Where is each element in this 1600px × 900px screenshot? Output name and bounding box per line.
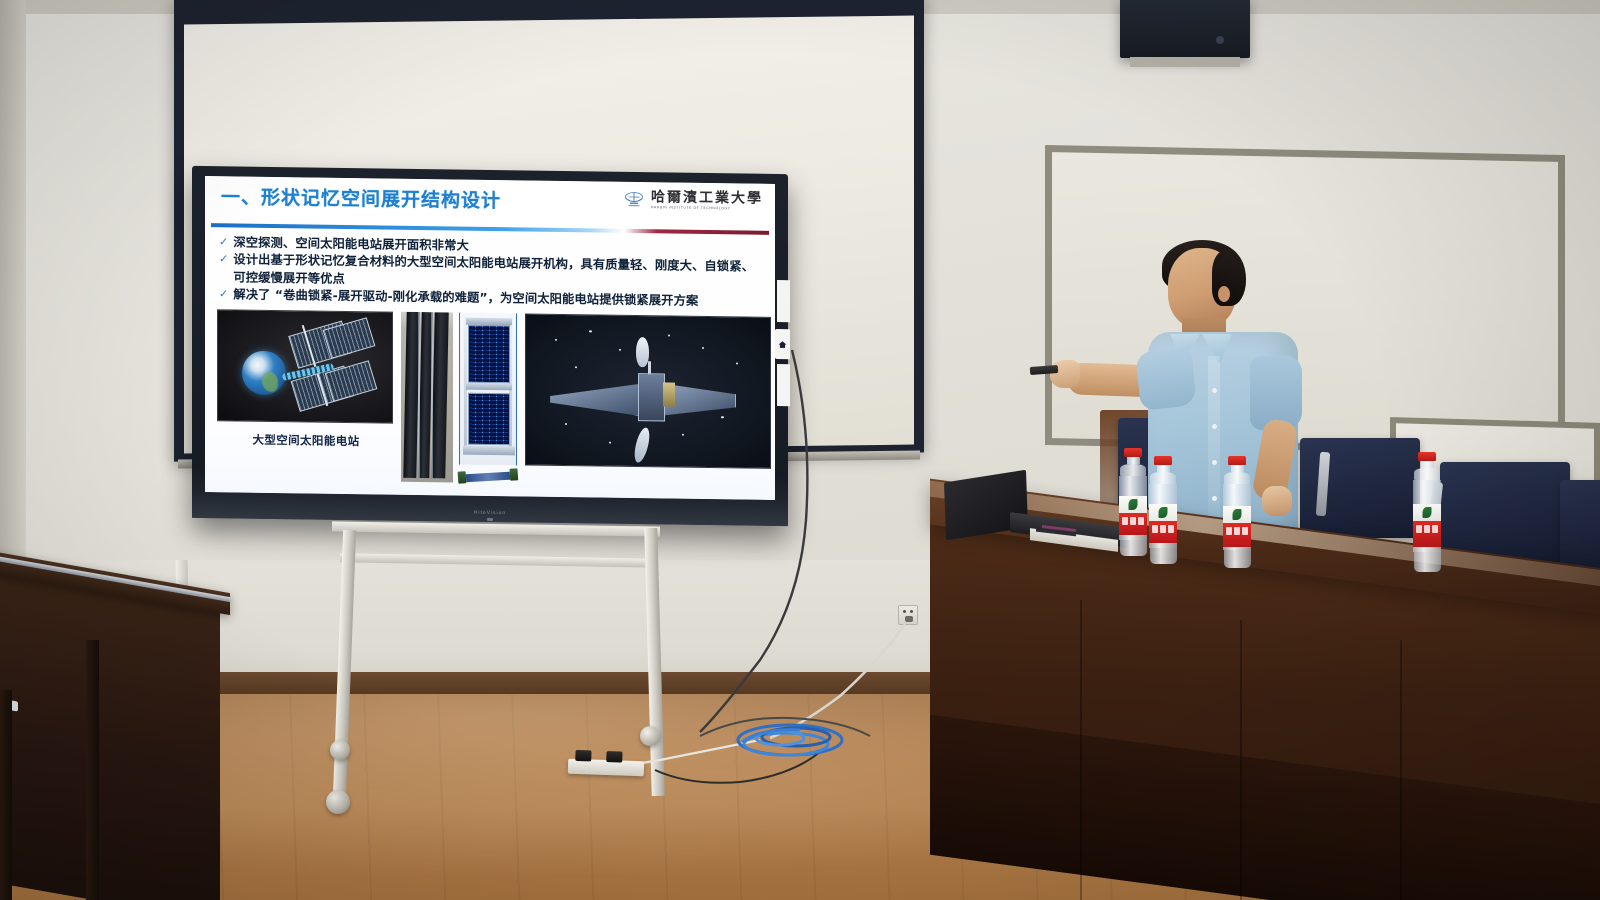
table-panel-seam — [1080, 600, 1082, 900]
leaf-logo-icon — [1233, 509, 1242, 520]
brand-glyph — [1122, 517, 1128, 525]
composite-boom — [431, 312, 448, 478]
brand-glyph — [1416, 525, 1422, 533]
university-logo: 哈爾濱工業大學 HARBIN INSTITUTE OF TECHNOLOGY — [622, 190, 763, 212]
display-side-bezel-strip — [777, 280, 790, 322]
star — [702, 347, 704, 349]
bottle-neck — [1157, 465, 1170, 472]
star — [736, 362, 738, 364]
bottle-label-upper — [1413, 504, 1441, 521]
leaf-logo-icon — [1129, 499, 1138, 510]
bottle-cap — [1124, 448, 1142, 457]
water-bottle[interactable] — [1148, 456, 1178, 564]
star — [609, 441, 611, 443]
figure-solar-power-station: 大型空间太阳能电站 — [217, 309, 395, 449]
lock-mechanism-icon — [466, 472, 510, 482]
figure-composite-booms — [401, 312, 453, 483]
brand-glyph — [1242, 527, 1248, 535]
figure-solar-power-station-image — [217, 309, 393, 423]
check-icon: ✓ — [219, 234, 228, 251]
slide-header: 一、形状记忆空间展开结构设计 哈爾濱工業大學 HARBIN IN — [205, 176, 775, 230]
bottle-neck — [1231, 465, 1244, 472]
shirt-button — [1212, 460, 1217, 465]
figure-deployed-panel-image — [459, 312, 517, 465]
star — [619, 349, 621, 351]
presenter-right-hand — [1262, 486, 1292, 516]
slide-figure-row: 大型空间太阳能电站 — [205, 309, 775, 499]
bottle-body — [1223, 484, 1251, 550]
brand-glyph — [1130, 517, 1136, 525]
hit-shield-icon — [622, 190, 646, 210]
satellite-solar-wing — [550, 382, 643, 416]
power-strip — [568, 759, 644, 777]
star — [575, 366, 577, 368]
bottle-label-upper — [1223, 506, 1251, 523]
bottle-base — [1224, 550, 1251, 568]
boom-highlight — [431, 312, 433, 478]
speaker-driver-icon — [1216, 36, 1224, 44]
star — [555, 339, 557, 341]
display-power-led — [487, 518, 493, 521]
wall-speaker — [1120, 0, 1250, 58]
leaf-logo-icon — [1159, 507, 1168, 518]
bottle-label-lower — [1149, 521, 1177, 543]
bottle-body — [1413, 480, 1441, 552]
figure-caption: 大型空间太阳能电站 — [217, 431, 395, 449]
slide: 一、形状记忆空间展开结构设计 哈爾濱工業大學 HARBIN IN — [205, 176, 775, 500]
bottle-brand-text — [1149, 521, 1177, 533]
bottle-body — [1149, 484, 1177, 548]
brand-glyph — [1226, 527, 1232, 535]
bottle-neck — [1127, 457, 1140, 464]
satellite-body — [638, 373, 665, 421]
figure-mechanism-inset — [459, 468, 517, 485]
stand-caster-wheel — [330, 740, 350, 760]
bottle-cap — [1418, 452, 1436, 461]
bottle-shoulder — [1224, 472, 1250, 484]
earth-globe-icon — [242, 350, 286, 395]
slide-title: 一、形状记忆空间展开结构设计 — [221, 182, 501, 213]
brand-glyph — [1138, 517, 1144, 525]
left-table-leg — [0, 690, 12, 900]
wall-power-outlet — [898, 605, 918, 625]
bottle-label-lower — [1223, 523, 1251, 547]
interactive-display[interactable]: 一、形状记忆空间展开结构设计 哈爾濱工業大學 HARBIN IN — [192, 166, 788, 526]
bottle-neck — [1421, 461, 1434, 468]
figure-composite-booms-image — [401, 312, 453, 483]
power-plug — [575, 750, 591, 762]
stand-caster-wheel — [640, 726, 660, 746]
check-icon: ✓ — [219, 252, 228, 269]
panel-cap-rail — [466, 382, 512, 390]
bottle-cap — [1154, 456, 1172, 465]
presenter-left-sleeve — [1135, 347, 1197, 411]
star — [721, 416, 724, 419]
bottle-shoulder — [1414, 468, 1440, 480]
bottle-brand-text — [1413, 521, 1441, 533]
bottle-cap — [1228, 456, 1246, 465]
brand-glyph — [1432, 525, 1438, 533]
bottle-body — [1119, 476, 1147, 540]
logo-name-en: HARBIN INSTITUTE OF TECHNOLOGY — [651, 207, 763, 212]
bottle-label-lower — [1119, 513, 1147, 535]
bottle-shoulder — [1120, 464, 1146, 476]
speaker-bracket — [1130, 57, 1240, 67]
display-screen[interactable]: 一、形状记忆空间展开结构设计 哈爾濱工業大學 HARBIN IN — [205, 176, 775, 500]
star — [565, 423, 567, 425]
home-icon[interactable] — [775, 329, 790, 359]
brand-glyph — [1152, 525, 1158, 533]
presenter-ear — [1218, 286, 1230, 302]
power-plug — [606, 751, 622, 763]
leaf-logo-icon — [1423, 507, 1432, 518]
bottle-label-upper — [1119, 496, 1147, 513]
bottle-label-lower — [1413, 521, 1441, 547]
table-panel-seam — [1240, 620, 1242, 900]
left-table-leg — [86, 640, 99, 900]
chair-backrest[interactable] — [1560, 480, 1600, 576]
left-table-body — [0, 572, 220, 900]
star — [682, 433, 684, 435]
satellite-instrument — [663, 382, 675, 406]
shirt-button — [1212, 388, 1217, 393]
brand-glyph — [1424, 525, 1430, 533]
logo-text: 哈爾濱工業大學 HARBIN INSTITUTE OF TECHNOLOGY — [651, 191, 763, 212]
water-bottle[interactable] — [1118, 448, 1148, 556]
bottle-shoulder — [1150, 472, 1176, 484]
brand-glyph — [1160, 525, 1166, 533]
water-bottle[interactable] — [1222, 456, 1252, 568]
solar-cell-block — [468, 325, 510, 384]
brand-glyph — [1234, 527, 1240, 535]
shirt-button — [1212, 424, 1217, 429]
display-side-bezel-strip — [777, 364, 790, 406]
slide-bullet-list: ✓ 深空探测、空间太阳能电站展开面积非常大 ✓ 设计出基于形状记忆复合材料的大型… — [205, 227, 775, 312]
shirt-button — [1212, 496, 1217, 501]
bottle-label-upper — [1149, 504, 1177, 521]
bottle-base — [1120, 540, 1147, 556]
star — [668, 334, 670, 336]
bottle-base — [1414, 552, 1441, 572]
figure-deployed-panel — [459, 312, 519, 465]
figure-satellite-image — [525, 313, 771, 468]
brand-glyph — [1168, 525, 1174, 533]
satellite-antenna-dish — [632, 426, 653, 464]
table-panel-seam — [1400, 640, 1402, 900]
figure-satellite — [525, 313, 771, 468]
display-brand-label: HiteVision — [474, 510, 506, 516]
check-icon: ✓ — [219, 287, 228, 304]
bottle-base — [1150, 548, 1177, 564]
stand-caster-wheel — [326, 790, 350, 814]
water-bottle[interactable] — [1412, 452, 1442, 572]
bottle-brand-text — [1223, 523, 1251, 535]
solar-cell-block — [468, 393, 510, 446]
star — [589, 330, 592, 333]
logo-name-cn: 哈爾濱工業大學 — [651, 191, 763, 207]
presentation-room-scene: 一、形状记忆空间展开结构设计 哈爾濱工業大學 HARBIN IN — [0, 0, 1600, 900]
boom-highlight — [418, 312, 420, 478]
bottle-brand-text — [1119, 513, 1147, 525]
panel-base-rail — [463, 445, 515, 455]
